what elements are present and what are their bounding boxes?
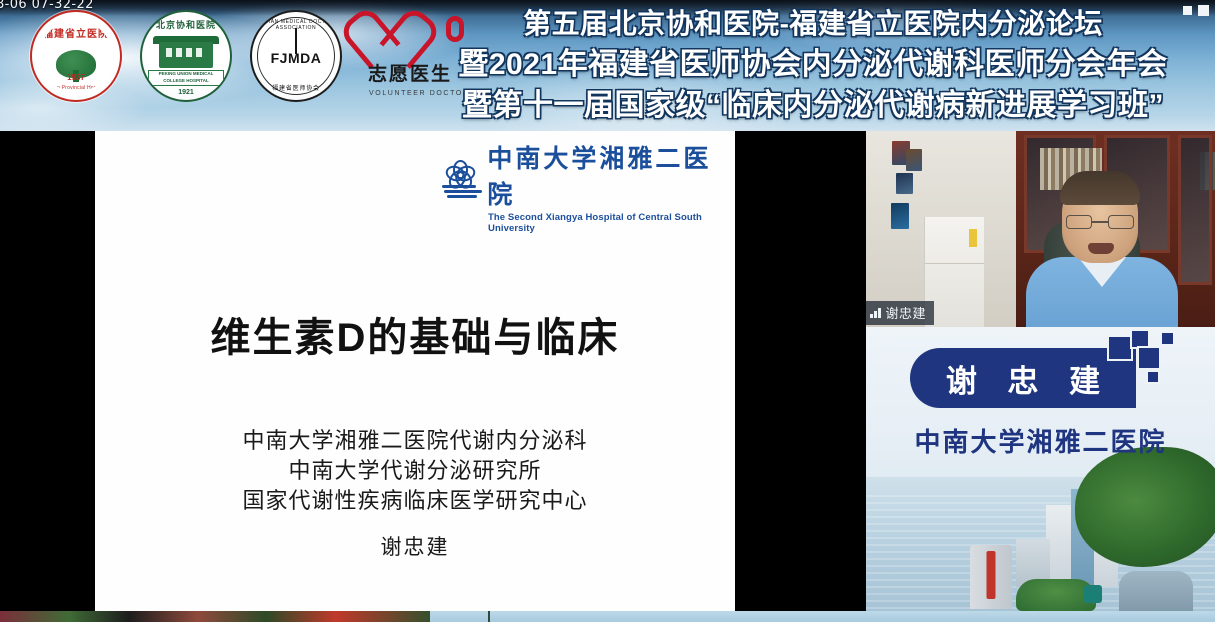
sponsor-logos: 福建省立医院 1937 Fujian Provincial Hospital 北… [30,8,472,104]
lamp-post [488,611,490,622]
speaker-name-banner: 谢 忠 建 [910,348,1136,408]
headline-line-1: 第五届北京协和医院-福建省立医院内分泌论坛 [418,3,1208,44]
fridge-sticker [969,229,977,247]
hall-window-icon [166,48,172,57]
slide-org-logo-en: The Second Xiangya Hospital of Central S… [488,212,735,234]
signal-bars-icon [870,307,881,318]
affiliation-line-2: 中南大学代谢分泌研究所 [95,456,735,486]
decorative-square [1146,370,1160,384]
wave-lines-icon [442,185,482,198]
affiliation-line-1: 中南大学湘雅二医院代谢内分泌科 [95,426,735,456]
decorative-square [1162,333,1173,344]
fjmda-logo-cn: 福建省医师协会 [252,83,340,92]
fujian-provincial-hospital-logo: 福建省立医院 1937 Fujian Provincial Hospital [30,10,122,102]
wall-poster [891,203,909,229]
headline-line-3: 暨第十一届国家级“临床内分泌代谢病新进展学习班” [418,85,1208,126]
speaker-video-tile[interactable]: 谢忠建 [866,131,1215,327]
fjph-logo-year: 1937 [40,73,112,82]
presentation-slide: 中南大学湘雅二医院 The Second Xiangya Hospital of… [95,131,735,611]
fjph-logo-en: Fujian Provincial Hospital [40,85,112,91]
speaker-mouth [1088,243,1114,254]
fjmda-logo-abbr: FJMDA [252,50,340,66]
peking-union-medical-college-hospital-logo: 北京协和医院 PEKING UNION MEDICAL COLLEGE HOSP… [140,10,232,102]
decorative-square [1137,346,1161,370]
pumch-logo-en-1: PEKING UNION MEDICAL [142,71,230,77]
affiliation-line-3: 国家代谢性疾病临床医学研究中心 [95,486,735,516]
magnolia-flower-icon [440,155,479,195]
participant-name: 谢忠建 [886,303,927,322]
decorative-square [1108,373,1122,387]
speaker-hair [1060,171,1140,205]
right-sidebar: 谢忠建 谢 忠 建 中南大学湘雅二医院 [866,131,1215,622]
speaker-name-card: 谢 忠 建 中南大学湘雅二医院 [866,327,1215,622]
shared-screen-stage[interactable]: 中南大学湘雅二医院 The Second Xiangya Hospital of… [0,131,866,611]
background-bottom-strip [0,611,1215,622]
flowerbed-strip [0,611,430,622]
screen-capture-root: 8-06 07-32-22 福建省立医院 1937 Fujian Provinc… [0,0,1215,622]
wall-poster [906,149,922,171]
slide-affiliations: 中南大学湘雅二医院代谢内分泌科 中南大学代谢分泌研究所 国家代谢性疾病临床医学研… [95,426,735,516]
eyeglasses-icon [1066,215,1134,229]
fjph-logo-cn: 福建省立医院 [40,25,112,40]
bookcase-pane [1178,135,1212,285]
slide-org-logo: 中南大学湘雅二医院 The Second Xiangya Hospital of… [440,139,735,234]
pumch-logo-year: 1921 [142,89,230,96]
participant-name-overlay: 谢忠建 [866,301,934,325]
headline-line-2: 暨2021年福建省医师协会内分泌代谢科医师分会年会 [418,44,1208,85]
hall-window-icon [176,48,182,57]
hospital-sign-tower [970,545,1012,609]
campus-kiosk [1119,571,1193,615]
slide-speaker-name: 谢忠建 [95,531,735,561]
pumch-logo-cn: 北京协和医院 [142,18,230,31]
speaker-hospital-name: 中南大学湘雅二医院 [866,422,1215,459]
conference-headline: 第五届北京协和医院-福建省立医院内分泌论坛 暨2021年福建省医师协会内分泌代谢… [418,3,1208,126]
conference-banner: 8-06 07-32-22 福建省立医院 1937 Fujian Provinc… [0,0,1215,131]
campus-sign [1084,585,1102,603]
wall-poster [896,173,913,194]
slide-org-logo-cn: 中南大学湘雅二医院 [487,139,735,211]
hall-window-icon [186,48,192,57]
campus-tree [1075,447,1215,567]
hall-window-icon [196,48,202,57]
speaker-name-text: 谢 忠 建 [935,356,1111,401]
slide-title: 维生素D的基础与临床 [95,305,735,363]
fjmda-logo: FUJIAN MEDICAL DOCTOR ASSOCIATION FJMDA … [250,10,342,102]
water-strip [430,611,1215,622]
pumch-logo-en-2: COLLEGE HOSPITAL [142,78,230,84]
